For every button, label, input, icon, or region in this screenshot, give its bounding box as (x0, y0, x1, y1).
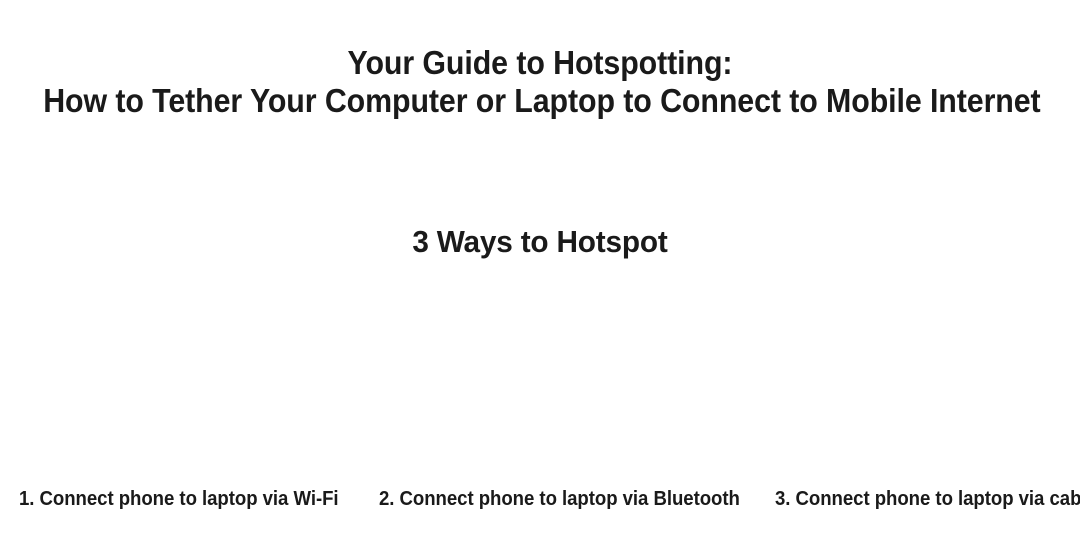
page-title: Your Guide to Hotspotting: How to Tether… (0, 44, 1080, 120)
page-title-line-1: Your Guide to Hotspotting: (43, 44, 1037, 82)
article-page: Your Guide to Hotspotting: How to Tether… (0, 0, 1080, 552)
section-heading: 3 Ways to Hotspot (0, 222, 1080, 262)
illustration-slot-wifi (0, 286, 360, 482)
illustration-row (0, 286, 1080, 482)
caption-cable: 3. Connect phone to laptop via cable (775, 487, 1080, 511)
caption-wifi: 1. Connect phone to laptop via Wi-Fi (19, 487, 339, 511)
illustration-slot-bluetooth (360, 286, 720, 482)
caption-bluetooth: 2. Connect phone to laptop via Bluetooth (379, 487, 740, 511)
illustration-slot-cable (720, 286, 1080, 482)
caption-row: 1. Connect phone to laptop via Wi-Fi 2. … (0, 487, 1080, 513)
page-title-line-2: How to Tether Your Computer or Laptop to… (43, 82, 1037, 120)
section-heading-text: 3 Ways to Hotspot (412, 222, 667, 262)
